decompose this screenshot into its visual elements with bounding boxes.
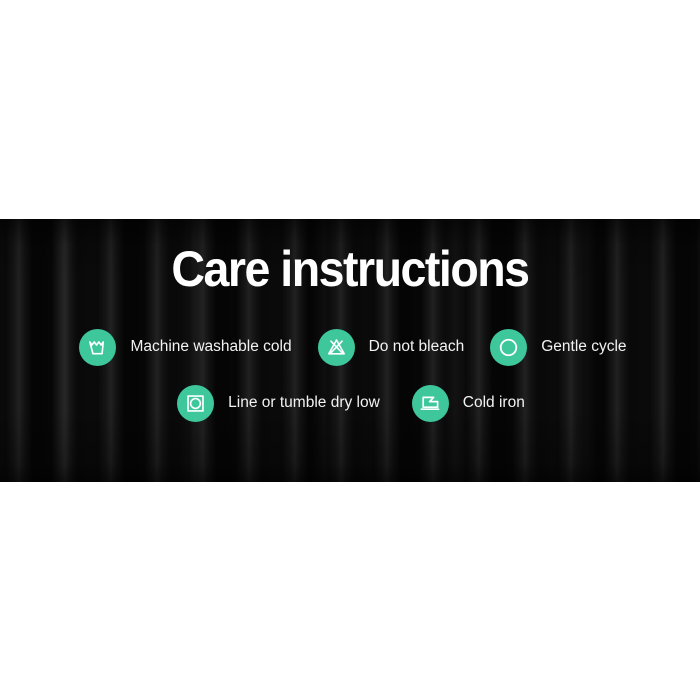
banner-content: Care instructions Machine washable cold <box>0 219 700 482</box>
care-item-line-or-tumble-dry-low: Line or tumble dry low <box>177 385 380 422</box>
care-item-label: Do not bleach <box>369 338 465 356</box>
care-item-machine-washable-cold: Machine washable cold <box>79 329 291 366</box>
care-item-label: Machine washable cold <box>130 338 291 356</box>
care-item-label: Gentle cycle <box>541 338 626 356</box>
care-instructions-banner-page: Care instructions Machine washable cold <box>0 0 700 700</box>
page-title: Care instructions <box>25 241 676 297</box>
care-item-cold-iron: Cold iron <box>412 385 525 422</box>
care-symbol-rows: Machine washable cold Do not bleach <box>0 319 700 431</box>
care-item-label: Cold iron <box>463 394 525 412</box>
care-item-gentle-cycle: Gentle cycle <box>490 329 626 366</box>
banner-background: Care instructions Machine washable cold <box>0 219 700 482</box>
washtub-icon <box>79 329 116 366</box>
care-row-1: Machine washable cold Do not bleach <box>0 319 700 375</box>
iron-icon <box>412 385 449 422</box>
care-item-label: Line or tumble dry low <box>228 394 380 412</box>
tumble-dry-icon <box>177 385 214 422</box>
care-item-do-not-bleach: Do not bleach <box>318 329 465 366</box>
care-row-2: Line or tumble dry low Cold iron <box>0 375 700 431</box>
gentle-cycle-circle-icon <box>490 329 527 366</box>
do-not-bleach-icon <box>318 329 355 366</box>
